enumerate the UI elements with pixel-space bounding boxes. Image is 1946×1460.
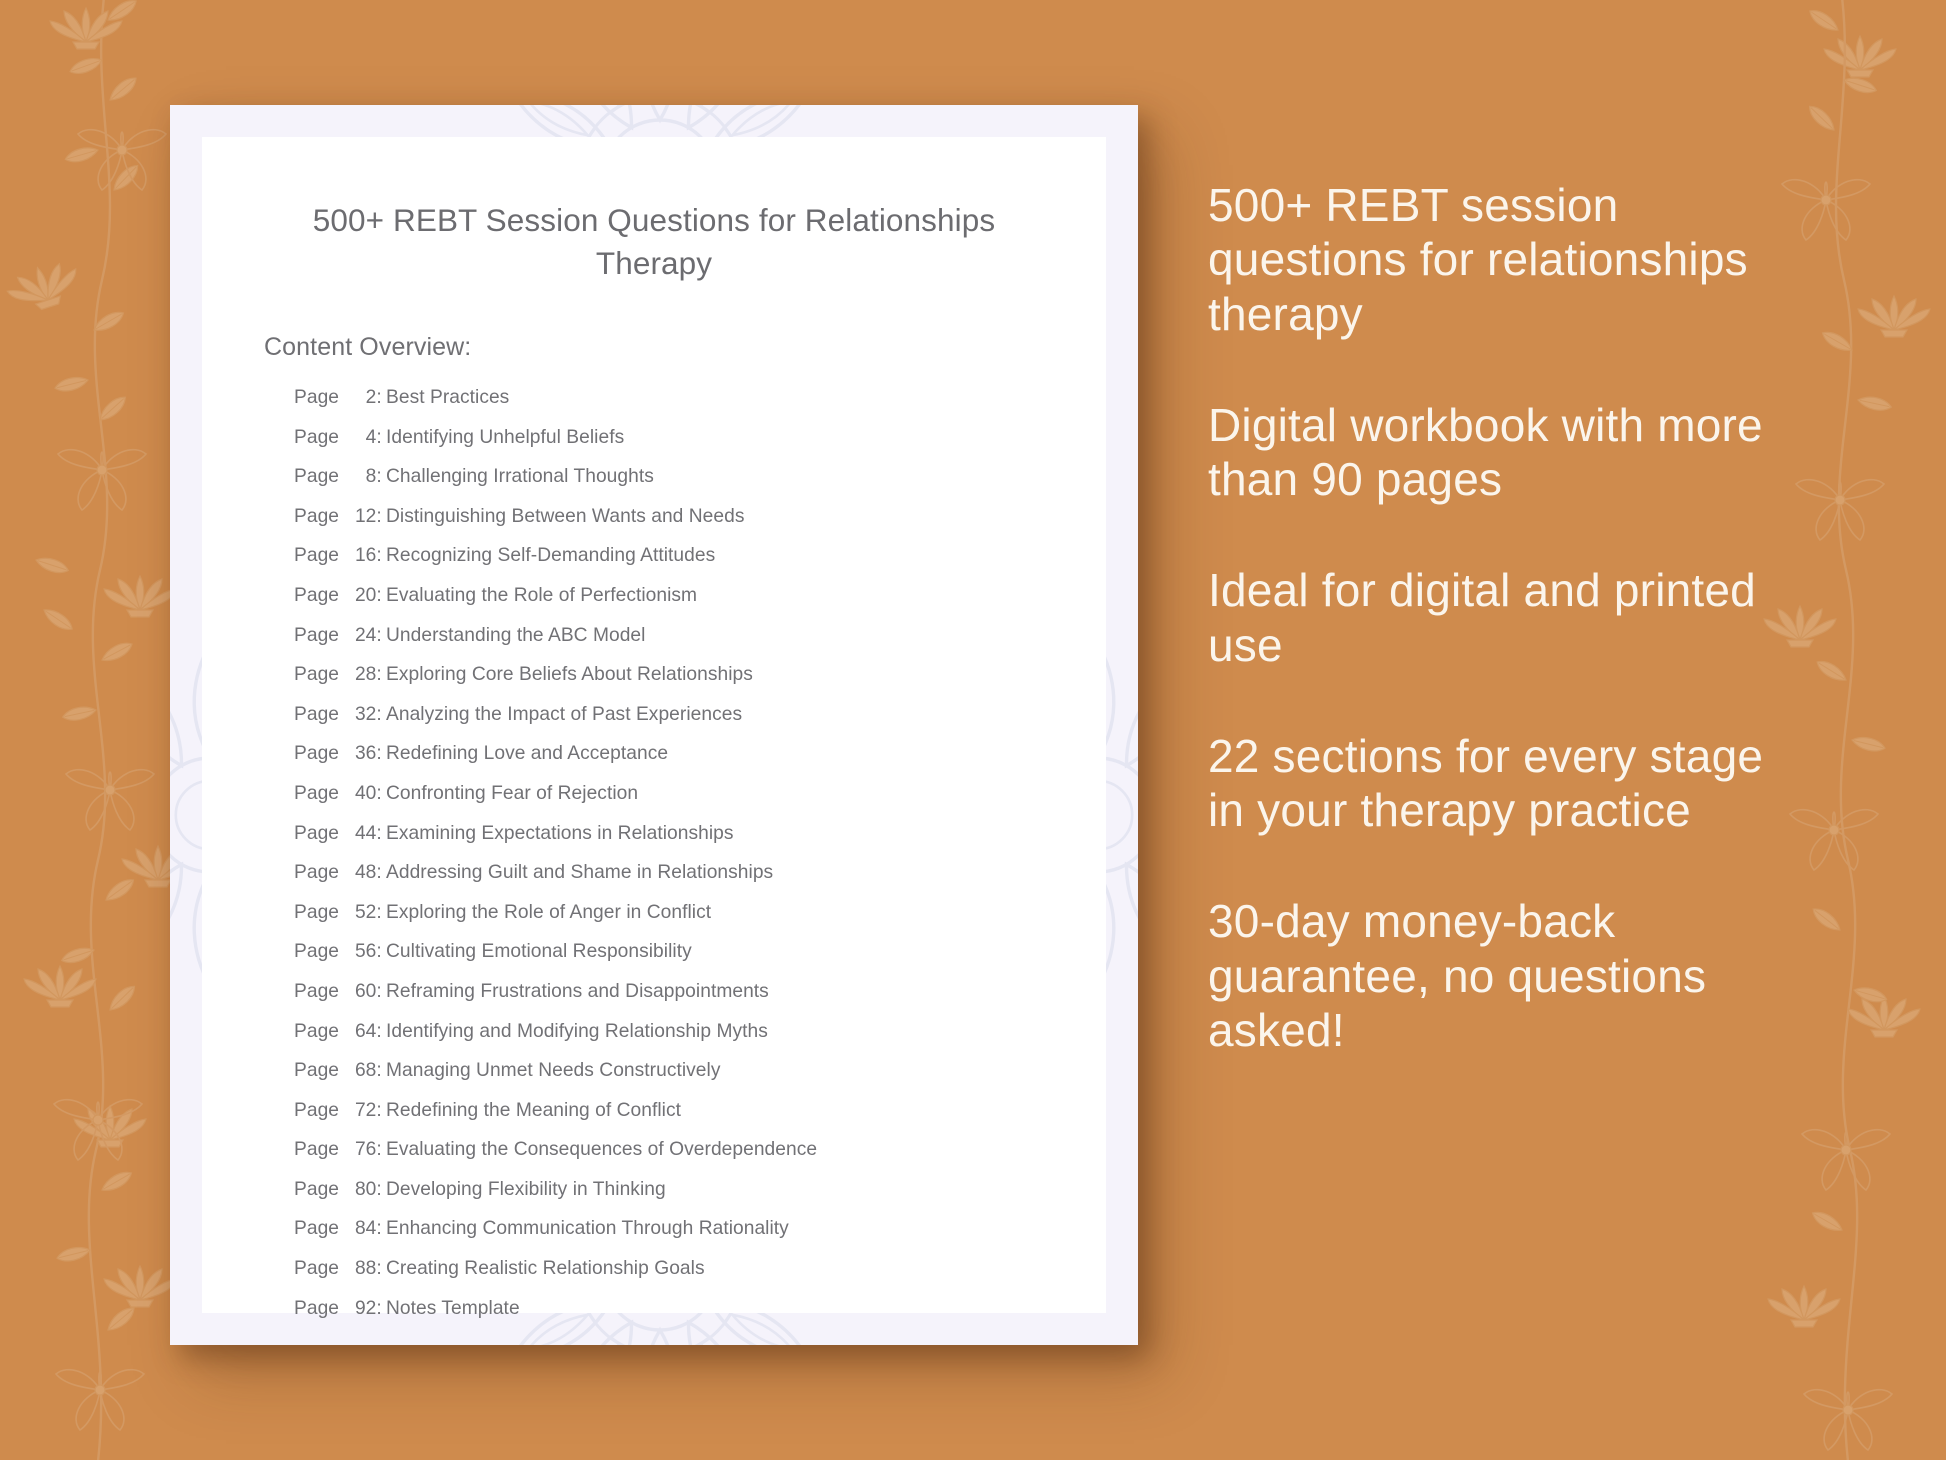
toc-entry-page: Page 20: — [294, 585, 386, 607]
toc-entry: Page 20:Evaluating the Role of Perfectio… — [294, 585, 1084, 625]
toc-entry-title: Evaluating the Role of Perfectionism — [386, 585, 697, 607]
toc-entry-title: Distinguishing Between Wants and Needs — [386, 506, 745, 528]
toc-entry-page: Page 8: — [294, 466, 386, 488]
toc-entry: Page 36:Redefining Love and Acceptance — [294, 743, 1084, 783]
toc-entry-page: Page 36: — [294, 743, 386, 765]
toc-entry-title: Identifying and Modifying Relationship M… — [386, 1021, 768, 1043]
toc-entry-page: Page 2: — [294, 387, 386, 409]
document-preview[interactable]: 500+ REBT Session Questions for Relation… — [170, 105, 1138, 1345]
toc-entry-page: Page 24: — [294, 625, 386, 647]
toc-entry: Page 84:Enhancing Communication Through … — [294, 1218, 1084, 1258]
promo-block: 500+ REBT session questions for relation… — [1208, 178, 1808, 341]
toc-entry: Page 2:Best Practices — [294, 387, 1084, 427]
toc-entry: Page 12:Distinguishing Between Wants and… — [294, 506, 1084, 546]
toc-entry: Page 76:Evaluating the Consequences of O… — [294, 1139, 1084, 1179]
toc-entry-title: Confronting Fear of Rejection — [386, 783, 638, 805]
toc-entry-title: Notes Template — [386, 1298, 520, 1320]
toc-entry-page: Page 80: — [294, 1179, 386, 1201]
toc-entry-title: Managing Unmet Needs Constructively — [386, 1060, 721, 1082]
toc-entry-page: Page 92: — [294, 1298, 386, 1320]
content-overview-label: Content Overview: — [264, 333, 471, 362]
promo-block: Ideal for digital and printed use — [1208, 563, 1808, 672]
toc-entry: Page 80:Developing Flexibility in Thinki… — [294, 1179, 1084, 1219]
promo-block: 22 sections for every stage in your ther… — [1208, 729, 1808, 838]
toc-entry-page: Page 56: — [294, 941, 386, 963]
toc-entry-page: Page 28: — [294, 664, 386, 686]
toc-entry: Page 32:Analyzing the Impact of Past Exp… — [294, 704, 1084, 744]
toc-entry: Page 56:Cultivating Emotional Responsibi… — [294, 941, 1084, 981]
toc-entry: Page 60:Reframing Frustrations and Disap… — [294, 981, 1084, 1021]
toc-entry-title: Evaluating the Consequences of Overdepen… — [386, 1139, 817, 1161]
toc-entry-title: Creating Realistic Relationship Goals — [386, 1258, 705, 1280]
toc-entry: Page 44:Examining Expectations in Relati… — [294, 823, 1084, 863]
toc-entry-title: Redefining Love and Acceptance — [386, 743, 668, 765]
toc-entry-title: Developing Flexibility in Thinking — [386, 1179, 666, 1201]
toc-entry-page: Page 12: — [294, 506, 386, 528]
toc-entry-page: Page 72: — [294, 1100, 386, 1122]
toc-entry-title: Exploring the Role of Anger in Conflict — [386, 902, 711, 924]
toc-entry-page: Page 32: — [294, 704, 386, 726]
toc-entry-page: Page 64: — [294, 1021, 386, 1043]
toc-entry: Page 8:Challenging Irrational Thoughts — [294, 466, 1084, 506]
toc-entry-page: Page 60: — [294, 981, 386, 1003]
toc-entry-title: Reframing Frustrations and Disappointmen… — [386, 981, 769, 1003]
toc-entry: Page 64:Identifying and Modifying Relati… — [294, 1021, 1084, 1061]
promo-block: Digital workbook with more than 90 pages — [1208, 398, 1808, 507]
promo-block: 30-day money-back guarantee, no question… — [1208, 894, 1808, 1057]
toc-entry-page: Page 16: — [294, 545, 386, 567]
toc-entry-title: Enhancing Communication Through Rational… — [386, 1218, 789, 1240]
toc-entry-page: Page 44: — [294, 823, 386, 845]
toc-entry: Page 24:Understanding the ABC Model — [294, 625, 1084, 665]
toc-entry-page: Page 48: — [294, 862, 386, 884]
toc-entry-title: Challenging Irrational Thoughts — [386, 466, 654, 488]
toc-entry-page: Page 88: — [294, 1258, 386, 1280]
toc-entry: Page 68:Managing Unmet Needs Constructiv… — [294, 1060, 1084, 1100]
toc-entry: Page 16:Recognizing Self-Demanding Attit… — [294, 545, 1084, 585]
toc-entry: Page 40:Confronting Fear of Rejection — [294, 783, 1084, 823]
toc-entry-title: Addressing Guilt and Shame in Relationsh… — [386, 862, 773, 884]
toc-entry: Page 72:Redefining the Meaning of Confli… — [294, 1100, 1084, 1140]
document-page: 500+ REBT Session Questions for Relation… — [202, 137, 1106, 1313]
toc-entry-title: Analyzing the Impact of Past Experiences — [386, 704, 742, 726]
toc-entry-title: Exploring Core Beliefs About Relationshi… — [386, 664, 753, 686]
toc-entry-title: Recognizing Self-Demanding Attitudes — [386, 545, 715, 567]
toc-entry-page: Page 40: — [294, 783, 386, 805]
toc-entry: Page 52:Exploring the Role of Anger in C… — [294, 902, 1084, 942]
toc-entry-page: Page 84: — [294, 1218, 386, 1240]
toc-entry-title: Redefining the Meaning of Conflict — [386, 1100, 681, 1122]
toc-entry-page: Page 4: — [294, 427, 386, 449]
promo-text-column: 500+ REBT session questions for relation… — [1208, 178, 1808, 1057]
page-title: 500+ REBT Session Questions for Relation… — [262, 199, 1046, 285]
toc-entry: Page 28:Exploring Core Beliefs About Rel… — [294, 664, 1084, 704]
toc-entry-page: Page 76: — [294, 1139, 386, 1161]
toc-entry-page: Page 52: — [294, 902, 386, 924]
toc-entry-title: Identifying Unhelpful Beliefs — [386, 427, 624, 449]
document-mat: 500+ REBT Session Questions for Relation… — [170, 105, 1138, 1345]
toc-entry-title: Best Practices — [386, 387, 509, 409]
toc-entry: Page 88:Creating Realistic Relationship … — [294, 1258, 1084, 1298]
toc-entry-title: Cultivating Emotional Responsibility — [386, 941, 692, 963]
toc-entry: Page 48:Addressing Guilt and Shame in Re… — [294, 862, 1084, 902]
toc-entry: Page 92:Notes Template — [294, 1298, 1084, 1338]
toc-entry-title: Examining Expectations in Relationships — [386, 823, 734, 845]
toc-entry: Page 4:Identifying Unhelpful Beliefs — [294, 427, 1084, 467]
table-of-contents: Page 2:Best PracticesPage 4:Identifying … — [294, 387, 1084, 1337]
toc-entry-title: Understanding the ABC Model — [386, 625, 645, 647]
toc-entry-page: Page 68: — [294, 1060, 386, 1082]
